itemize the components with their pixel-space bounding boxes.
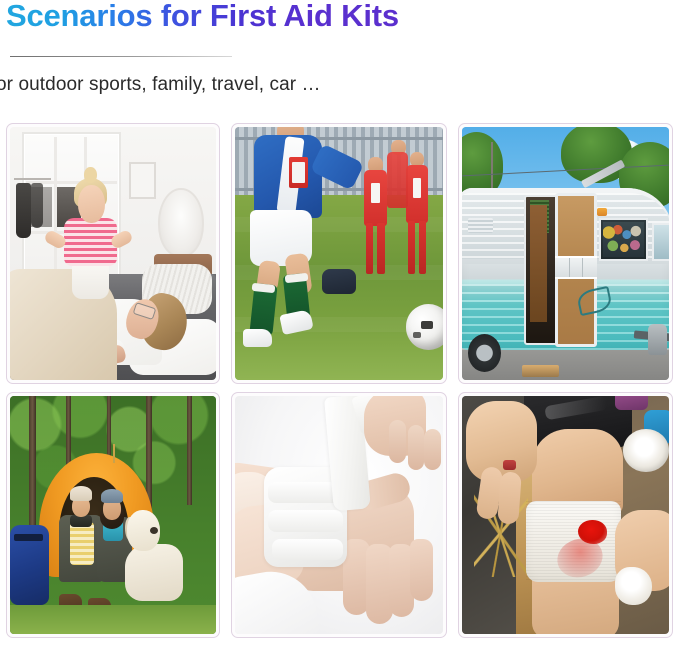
camping-woman-beanie xyxy=(101,489,124,503)
photo-travel-camper xyxy=(462,127,669,380)
home-child-striped-top xyxy=(64,218,118,266)
soccer-player-boot-left xyxy=(243,329,272,347)
page-subtitle: or outdoor sports, family, travel, car … xyxy=(0,74,321,96)
knee-painted-nail xyxy=(503,460,515,470)
hand-top-finger-1 xyxy=(389,420,406,463)
camping-ground xyxy=(10,605,216,634)
camper-door-window xyxy=(555,256,596,279)
camper-propane-tank xyxy=(648,324,667,354)
knee-hand-left xyxy=(466,401,536,482)
home-child-head xyxy=(78,185,105,223)
camper-marker-light xyxy=(597,208,607,216)
soccer-kit-bag xyxy=(322,269,355,294)
home-hanger-rail xyxy=(14,178,51,180)
home-coat xyxy=(16,183,30,239)
home-child-ponytail xyxy=(84,167,96,182)
gallery-item-knee-bandage xyxy=(458,392,673,638)
knee-purple-garment xyxy=(615,396,648,410)
page-header: Scenarios for First Aid Kits or outdoor … xyxy=(0,0,679,118)
camping-man-shirt xyxy=(70,522,95,565)
soccer-ball xyxy=(406,304,443,350)
soccer-opponent-3 xyxy=(387,152,408,208)
camping-dog-body xyxy=(125,544,183,601)
gallery-item-hand-bandaging xyxy=(231,392,447,638)
camping-tent-pole xyxy=(113,444,115,463)
knee-gauze-roll-lower xyxy=(615,567,652,605)
camping-man-beanie xyxy=(70,486,93,500)
home-picture-frame xyxy=(129,162,156,199)
camper-inner-door xyxy=(530,205,547,321)
hand-top-finger-2 xyxy=(408,425,425,470)
gallery-item-camping xyxy=(6,392,220,638)
scenario-image-gallery xyxy=(0,122,679,642)
page-title: Scenarios for First Aid Kits xyxy=(6,0,399,34)
camper-side-window xyxy=(599,218,649,261)
photo-hand-bandaging xyxy=(235,396,443,634)
knee-finger-2 xyxy=(497,471,521,525)
home-coat-2 xyxy=(31,183,43,229)
photo-home-family xyxy=(10,127,216,380)
gallery-item-home-family xyxy=(6,123,220,384)
photo-outdoor-sports xyxy=(235,127,443,380)
knee-blood-stain xyxy=(578,520,607,544)
camper-rear-window xyxy=(652,223,669,261)
camper-step xyxy=(522,365,559,378)
hand-finger-4 xyxy=(410,539,433,601)
camper-vent xyxy=(468,218,493,233)
photo-knee-bandage xyxy=(462,396,669,634)
home-floor-lamp xyxy=(158,188,203,258)
gallery-item-outdoor-sports xyxy=(231,123,447,384)
hand-top-finger-3 xyxy=(424,429,441,469)
title-divider xyxy=(10,56,232,57)
knee-gauze-roll xyxy=(623,429,669,472)
photo-camping xyxy=(10,396,216,634)
gallery-item-travel-camper xyxy=(458,123,673,384)
